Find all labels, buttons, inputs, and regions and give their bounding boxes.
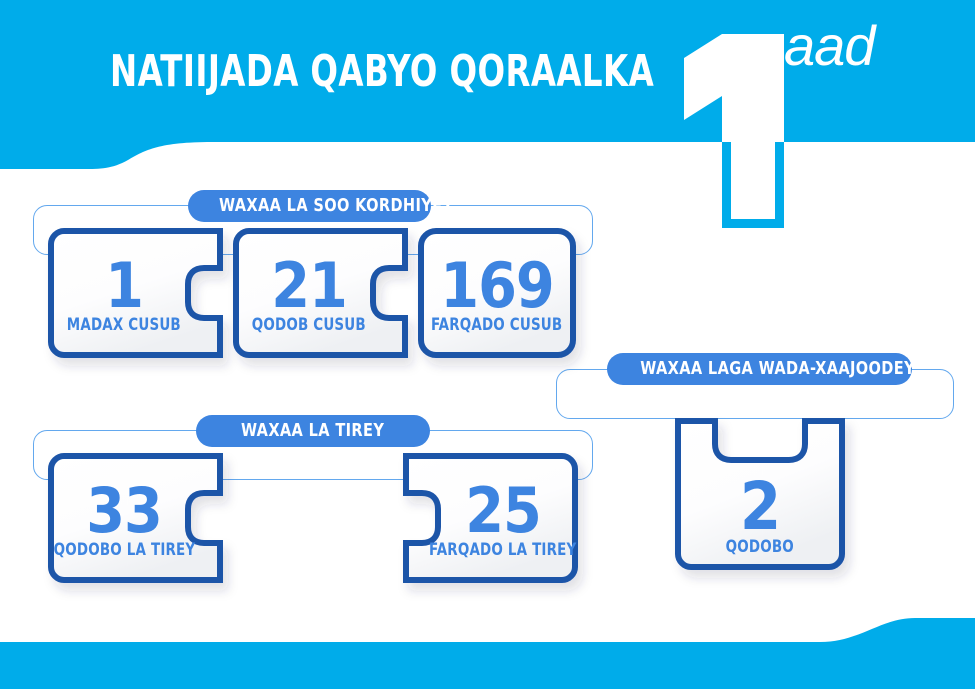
- stat-value: 1: [105, 257, 143, 316]
- group-label-counted: WAXAA LA TIREY: [196, 415, 430, 447]
- stat-label: QODOBO: [721, 538, 799, 557]
- stat-value: 2: [740, 476, 780, 539]
- stat-label: MADAX CUSUB: [59, 316, 189, 335]
- stat-label: FARQADO LA TIREY: [419, 541, 587, 560]
- stat-card-farqado-cusub[interactable]: 169 FARQADO CUSUB: [418, 228, 576, 358]
- group-label-negotiated: WAXAA LAGA WADA-XAAJOODEY: [607, 353, 912, 385]
- ordinal-suffix: aad: [784, 18, 874, 74]
- stat-card-qodobo-negotiated[interactable]: 2 QODOBO: [675, 418, 845, 573]
- stat-value: 25: [465, 482, 541, 541]
- stat-value: 33: [86, 482, 162, 541]
- stat-label: FARQADO CUSUB: [422, 316, 571, 335]
- big-one-outline-inner: [731, 142, 775, 219]
- stat-card-farqado-la-tirey[interactable]: 25 FARQADO LA TIREY: [400, 453, 578, 583]
- stat-label: QODOB CUSUB: [244, 316, 374, 335]
- page-title: NATIIJADA QABYO QORAALKA: [110, 48, 654, 96]
- stat-value: 21: [271, 257, 347, 316]
- stat-card-madax-cusub[interactable]: 1 MADAX CUSUB: [48, 228, 226, 358]
- group-label-added: WAXAA LA SOO KORDHIYEY: [188, 190, 431, 222]
- footer-band: [0, 618, 975, 689]
- infographic-canvas: NATIIJADA QABYO QORAALKA aad WAXAA LA SO…: [0, 0, 975, 689]
- stat-card-qodob-cusub[interactable]: 21 QODOB CUSUB: [233, 228, 411, 358]
- stat-card-qodobo-la-tirey[interactable]: 33 QODOBO LA TIREY: [48, 453, 226, 583]
- stat-value: 169: [440, 257, 553, 316]
- stat-label: QODOBO LA TIREY: [44, 541, 205, 560]
